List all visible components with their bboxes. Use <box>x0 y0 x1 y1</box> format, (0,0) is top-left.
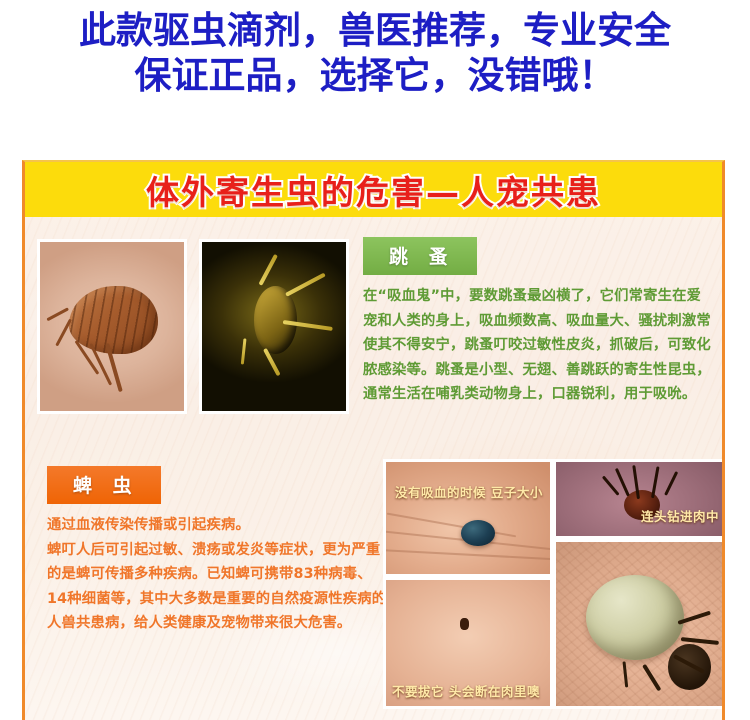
tick-leg-spike <box>664 471 678 495</box>
flea-closeup-leg <box>285 272 326 296</box>
embedded-tick-shape <box>460 618 469 630</box>
flea-leg <box>46 307 68 320</box>
tick-photo-embedded-caption: 不要拔它 头会断在肉里噢 <box>392 681 540 700</box>
parasite-info-panel: 体外寄生虫的危害—人宠共患 <box>22 160 725 720</box>
section-banner-title: 体外寄生虫的危害—人宠共患 <box>25 162 722 217</box>
flea-section: 跳 蚤 在“吸血鬼”中，要数跳蚤最凶横了，它们常寄生在爱宠和人类的身上，吸血频数… <box>25 239 722 429</box>
palm-crease <box>383 549 553 561</box>
flea-closeup-leg <box>241 338 247 364</box>
flea-microscope-art <box>40 242 184 411</box>
headline-line-1: 此款驱虫滴剂，兽医推荐，专业安全 <box>0 8 750 53</box>
flea-closeup-body <box>254 286 297 354</box>
tick-photo-grid: 没有吸血的时候 豆子大小 不要拔它 头会断在肉里噢 <box>383 459 725 709</box>
flea-stripes <box>69 286 158 354</box>
flea-body-shape <box>69 286 158 354</box>
tick-photo-engorged <box>553 539 725 709</box>
flea-closeup-leg <box>258 253 277 285</box>
engorged-tick-head <box>668 644 712 690</box>
tick-tag-label: 蜱 虫 <box>47 466 161 504</box>
flea-description: 在“吸血鬼”中，要数跳蚤最凶横了，它们常寄生在爱宠和人类的身上，吸血频数高、吸血… <box>363 284 713 407</box>
panel-content: 跳 蚤 在“吸血鬼”中，要数跳蚤最凶横了，它们常寄生在爱宠和人类的身上，吸血频数… <box>25 217 722 720</box>
tick-photo-unfed: 没有吸血的时候 豆子大小 <box>383 459 553 577</box>
tick-leg-spike <box>602 476 619 496</box>
tick-photo-engorged-art <box>556 542 725 706</box>
tick-photo-embedded: 不要拔它 头会断在肉里噢 <box>383 577 553 709</box>
tick-photo-unfed-caption: 没有吸血的时候 豆子大小 <box>395 482 543 501</box>
engorged-tick-body <box>586 575 684 660</box>
flea-tag-label: 跳 蚤 <box>363 237 477 275</box>
tick-description: 通过血液传染传播或引起疾病。 蜱叮人后可引起过敏、溃疡或发炎等症状，更为严重的是… <box>47 513 387 636</box>
tick-section: 蜱 虫 通过血液传染传播或引起疾病。 蜱叮人后可引起过敏、溃疡或发炎等症状，更为… <box>25 454 722 720</box>
tick-photo-unfed-art <box>386 462 550 574</box>
section-banner: 体外寄生虫的危害—人宠共患 <box>25 162 722 217</box>
headline-line-2: 保证正品，选择它，没错哦！ <box>0 53 750 98</box>
flea-closeup-photo <box>199 239 349 414</box>
tick-photo-burrowed-caption: 连头钻进肉中 <box>641 506 719 525</box>
flea-text-block: 跳 蚤 在“吸血鬼”中，要数跳蚤最凶横了，它们常寄生在爱宠和人类的身上，吸血频数… <box>363 237 713 407</box>
flea-microscope-photo <box>37 239 187 414</box>
page-headline: 此款驱虫滴剂，兽医推荐，专业安全 保证正品，选择它，没错哦！ <box>0 8 750 98</box>
flea-closeup-art <box>202 242 346 411</box>
tick-text-block: 蜱 虫 通过血液传染传播或引起疾病。 蜱叮人后可引起过敏、溃疡或发炎等症状，更为… <box>47 466 387 636</box>
flea-leg <box>55 319 71 347</box>
tick-photo-burrowed: 连头钻进肉中 <box>553 459 725 539</box>
